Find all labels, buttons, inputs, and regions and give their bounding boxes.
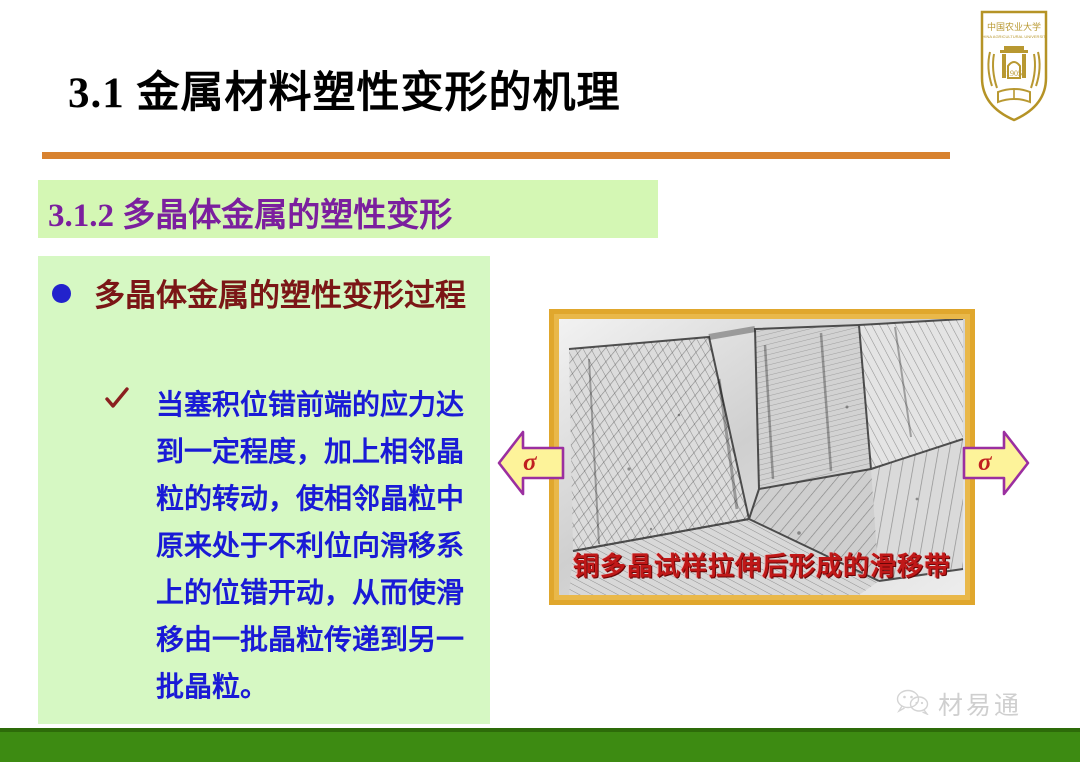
bottom-bar bbox=[0, 728, 1080, 762]
title-divider bbox=[42, 152, 950, 159]
svg-text:1905: 1905 bbox=[1006, 69, 1022, 78]
page-title: 3.1 金属材料塑性变形的机理 bbox=[68, 58, 621, 120]
bullet-level1-label: 多晶体金属的塑性变形过程 bbox=[94, 272, 494, 320]
stress-arrow-left: σ bbox=[497, 424, 565, 502]
university-logo: 中国农业大学 CHINA AGRICULTURAL UNIVERSITY 190… bbox=[978, 8, 1050, 124]
bullet-level2-label: 当塞积位错前端的应力达到一定程度，加上相邻晶粒的转动，使相邻晶粒中原来处于不利位… bbox=[156, 382, 486, 711]
check-mark-icon bbox=[104, 386, 130, 412]
svg-text:中国农业大学: 中国农业大学 bbox=[987, 21, 1041, 32]
micrograph-figure: 铜多晶试样拉伸后形成的滑移带 bbox=[549, 309, 975, 605]
micrograph-image: 铜多晶试样拉伸后形成的滑移带 bbox=[559, 319, 965, 595]
watermark: 材易通 bbox=[896, 686, 1022, 722]
wechat-icon bbox=[896, 689, 930, 720]
stress-symbol-right: σ bbox=[978, 449, 991, 477]
section-subtitle: 3.1.2 多晶体金属的塑性变形 bbox=[48, 188, 452, 236]
bullet-dot-icon bbox=[52, 284, 71, 303]
figure-caption: 铜多晶试样拉伸后形成的滑移带 bbox=[559, 546, 965, 583]
watermark-label: 材易通 bbox=[938, 686, 1022, 722]
stress-arrow-right: σ bbox=[962, 424, 1030, 502]
svg-text:CHINA AGRICULTURAL UNIVERSITY: CHINA AGRICULTURAL UNIVERSITY bbox=[980, 34, 1049, 39]
stress-symbol-left: σ bbox=[523, 449, 536, 477]
slide-canvas: 中国农业大学 CHINA AGRICULTURAL UNIVERSITY 190… bbox=[0, 0, 1080, 762]
